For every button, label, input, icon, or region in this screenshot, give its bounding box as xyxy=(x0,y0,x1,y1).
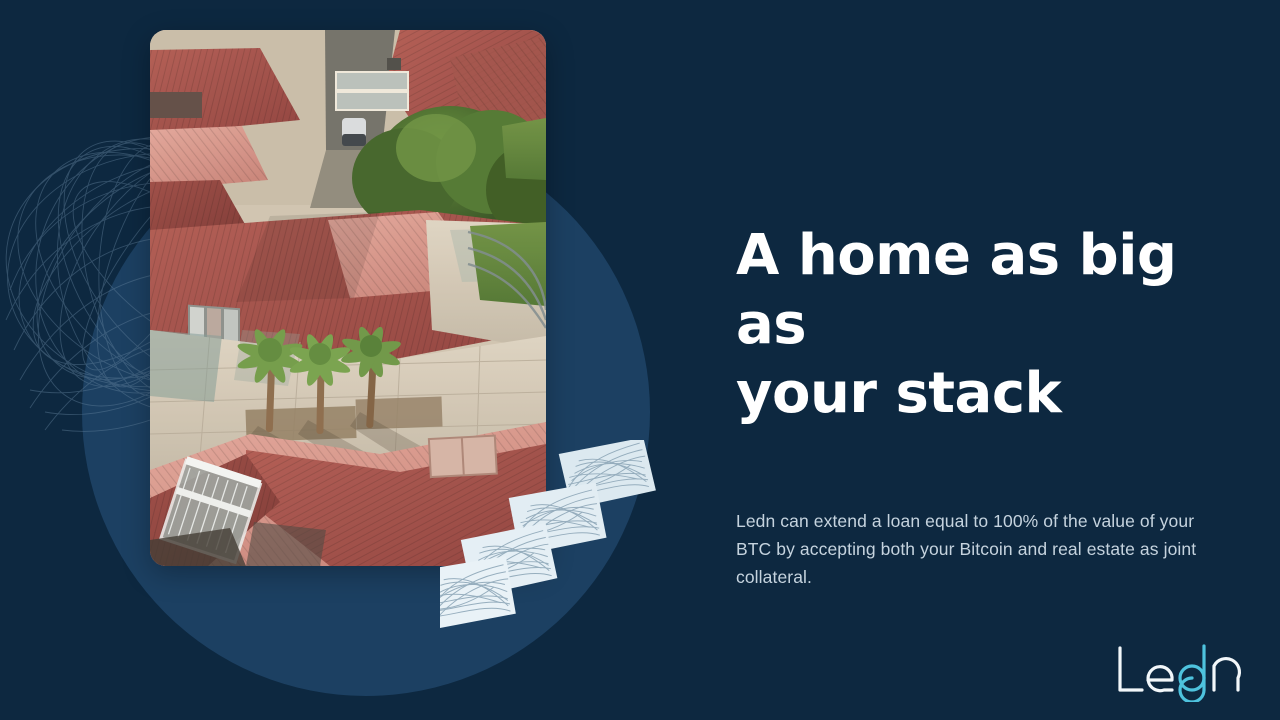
paper-sheets-decoration xyxy=(440,440,660,640)
page-title: A home as big as your stack xyxy=(736,222,1214,429)
slide-root: A home as big as your stack Ledn can ext… xyxy=(0,0,1280,720)
text-column: A home as big as your stack Ledn can ext… xyxy=(736,222,1214,592)
logo-letter-l xyxy=(1120,648,1142,690)
headline-line-2: your stack xyxy=(736,360,1214,429)
body-paragraph: Ledn can extend a loan equal to 100% of … xyxy=(736,507,1206,592)
logo-letter-e xyxy=(1148,667,1172,691)
ledn-logo xyxy=(1112,640,1252,702)
logo-letter-n xyxy=(1214,659,1239,690)
headline-line-1: A home as big as xyxy=(736,222,1214,360)
